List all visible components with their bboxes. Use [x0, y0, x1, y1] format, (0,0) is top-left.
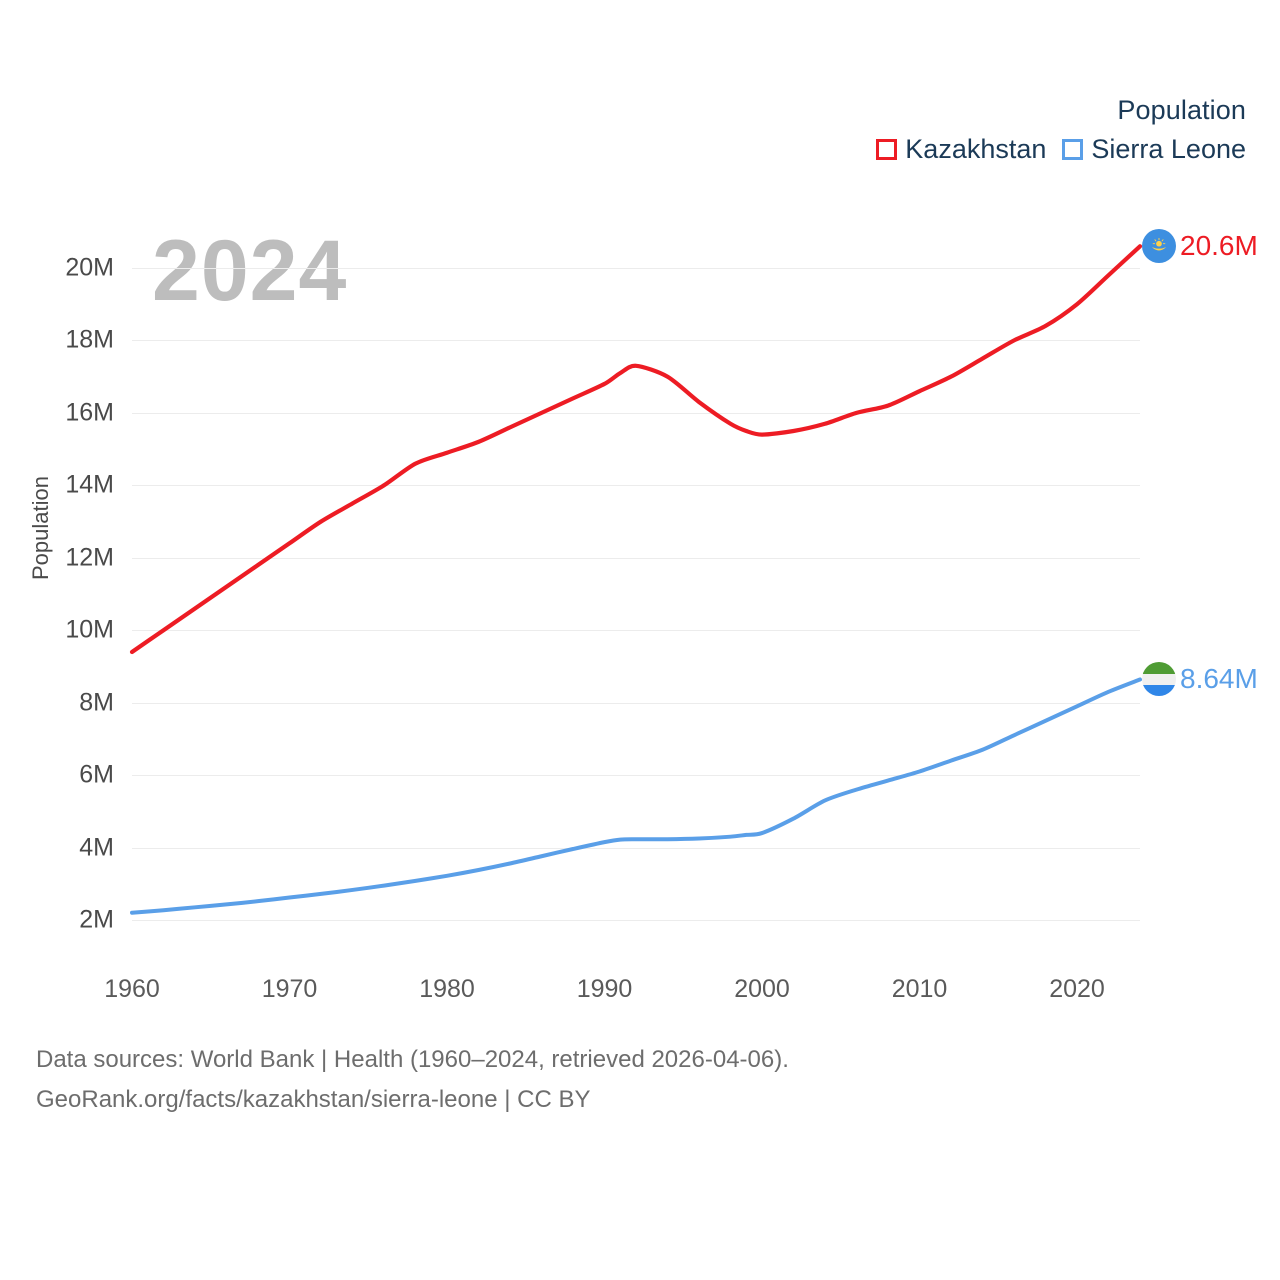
kazakhstan-flag-icon — [1142, 229, 1176, 263]
chart-footer: Data sources: World Bank | Health (1960–… — [36, 1040, 789, 1119]
endpoint-value-sierra-leone: 8.64M — [1180, 665, 1258, 693]
endpoint-sierra-leone[interactable]: 8.64M — [1142, 662, 1258, 696]
footer-data-sources: Data sources: World Bank | Health (1960–… — [36, 1040, 789, 1080]
sierra-leone-flag-icon — [1142, 662, 1176, 696]
footer-attribution: GeoRank.org/facts/kazakhstan/sierra-leon… — [36, 1080, 789, 1120]
endpoint-value-kazakhstan: 20.6M — [1180, 232, 1258, 260]
series-line-sierra-leone — [132, 679, 1140, 912]
endpoint-kazakhstan[interactable]: 20.6M — [1142, 229, 1258, 263]
series-line-kazakhstan — [132, 246, 1140, 652]
population-line-chart: Population Kazakhstan Sierra Leone 2024 … — [0, 0, 1280, 1280]
